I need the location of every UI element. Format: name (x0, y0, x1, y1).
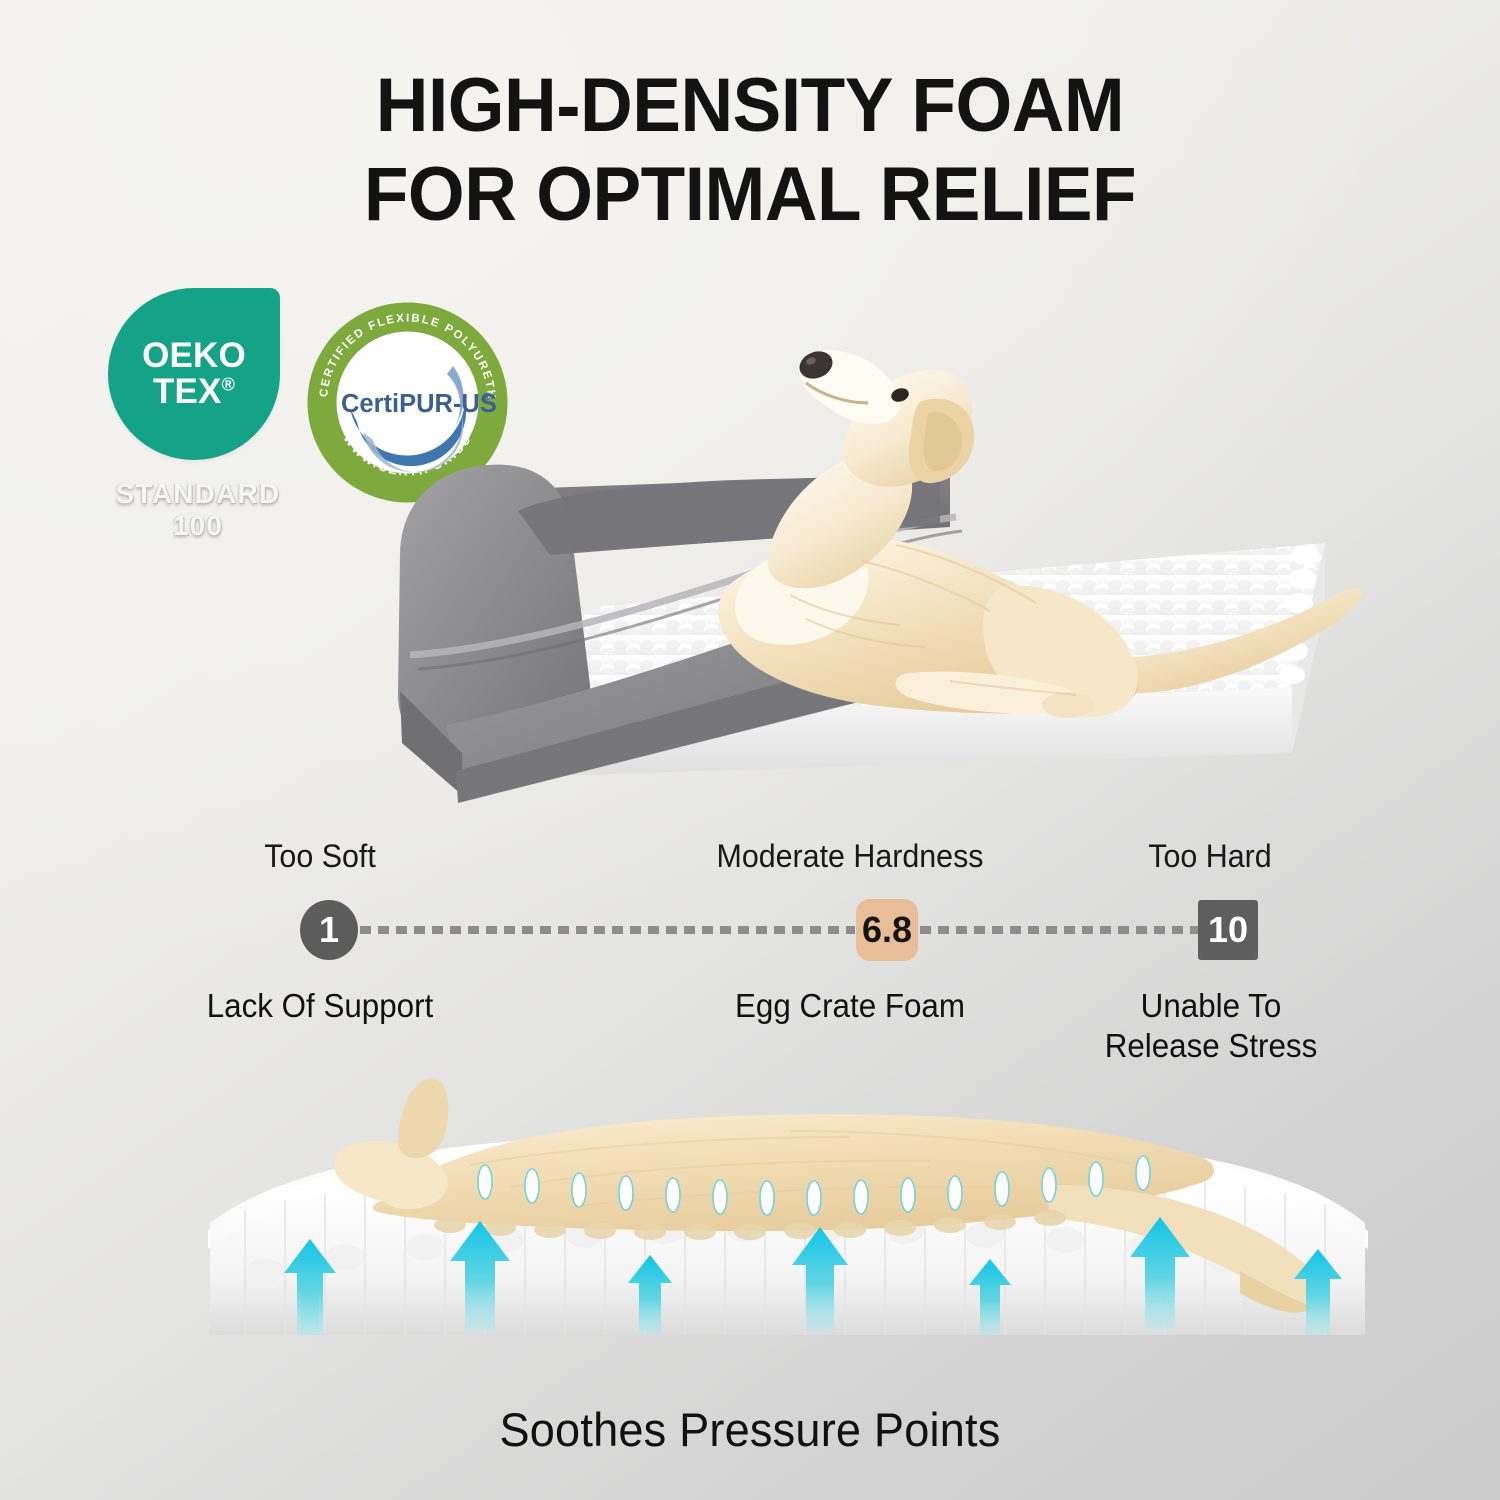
scale-bottom-label-foam: Egg Crate Foam (708, 986, 993, 1026)
dog-on-foam-pressure-illustration (150, 1035, 1450, 1395)
footer-caption: Soothes Pressure Points (30, 1402, 1470, 1457)
page-title: HIGH-DENSITY FOAM FOR OPTIMAL RELIEF (30, 62, 1470, 240)
headline-line-2: FOR OPTIMAL RELIEF (30, 151, 1470, 240)
scale-bottom-label-support: Lack Of Support (159, 986, 482, 1026)
scale-top-label-moderate: Moderate Hardness (708, 838, 993, 875)
dog-on-bed-illustration (250, 255, 1410, 815)
scale-marker-max: 10 (1198, 900, 1258, 960)
registered-mark: ® (222, 374, 235, 394)
hero-product-image (250, 255, 1410, 815)
tex-label: TEX® (153, 374, 235, 410)
scale-dash-left (360, 926, 855, 934)
infographic-page: HIGH-DENSITY FOAM FOR OPTIMAL RELIEF OEK… (0, 0, 1500, 1500)
headline-line-1: HIGH-DENSITY FOAM (376, 63, 1124, 148)
scale-track: 1 6.8 10 (300, 900, 1200, 960)
oeko-label: OEKO (142, 338, 246, 374)
hardness-scale: Too Soft Moderate Hardness Too Hard 1 6.… (0, 838, 1500, 1068)
scale-marker-min: 1 (300, 900, 358, 960)
scale-top-label-hard: Too Hard (1096, 838, 1324, 875)
scale-marker-current: 6.8 (856, 899, 918, 961)
scale-top-label-soft: Too Soft (187, 838, 453, 875)
pressure-points-image (150, 1035, 1450, 1395)
scale-dash-right (920, 926, 1200, 934)
